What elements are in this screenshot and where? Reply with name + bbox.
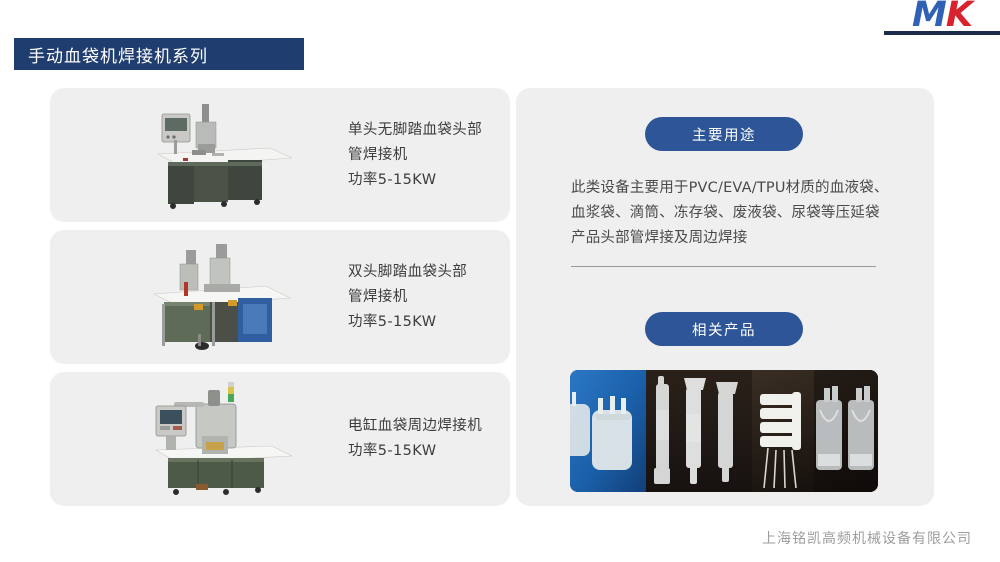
related-products-photo-strip	[570, 370, 878, 492]
info-panel: 主要用途 此类设备主要用于PVC/EVA/TPU材质的血液袋、血浆袋、滴筒、冻存…	[516, 88, 934, 506]
blood-bag-photo	[570, 370, 646, 492]
logo-wordmark: MK	[912, 0, 972, 34]
section-title-text: 手动血袋机焊接机系列	[14, 42, 208, 67]
section-divider	[571, 266, 876, 267]
company-footer: 上海铭凯高频机械设备有限公司	[762, 528, 972, 548]
brand-logo: MK	[884, 0, 1000, 38]
product-card[interactable]: 双头脚踏血袋头部 管焊接机 功率5-15KW	[50, 230, 510, 364]
product-caption: 双头脚踏血袋头部 管焊接机 功率5-15KW	[348, 230, 467, 364]
product-caption: 电缸血袋周边焊接机 功率5-15KW	[348, 372, 482, 506]
usage-badge-label: 主要用途	[692, 124, 756, 145]
product-caption-line: 单头无脚踏血袋头部	[348, 118, 482, 143]
transfer-bag-photo	[814, 370, 878, 492]
usage-badge[interactable]: 主要用途	[645, 117, 803, 151]
product-caption: 单头无脚踏血袋头部 管焊接机 功率5-15KW	[348, 88, 482, 222]
product-caption-line: 双头脚踏血袋头部	[348, 260, 467, 285]
product-caption-line: 功率5-15KW	[348, 439, 482, 464]
section-title-bar: 手动血袋机焊接机系列	[14, 38, 304, 70]
single-head-no-pedal-welder-photo	[140, 96, 310, 214]
related-products-badge-label: 相关产品	[692, 319, 756, 340]
electric-cylinder-perimeter-welder-photo	[140, 380, 310, 498]
product-caption-line: 功率5-15KW	[348, 310, 467, 335]
double-head-pedal-welder-photo	[140, 238, 310, 356]
logo-letter-k: K	[946, 0, 972, 35]
spike-port-connector-photo	[752, 370, 814, 492]
product-caption-line: 电缸血袋周边焊接机	[348, 414, 482, 439]
product-caption-line: 功率5-15KW	[348, 168, 482, 193]
product-card[interactable]: 单头无脚踏血袋头部 管焊接机 功率5-15KW	[50, 88, 510, 222]
product-caption-line: 管焊接机	[348, 143, 482, 168]
logo-letter-m: M	[912, 0, 946, 35]
usage-description: 此类设备主要用于PVC/EVA/TPU材质的血液袋、血浆袋、滴筒、冻存袋、废液袋…	[571, 176, 891, 251]
product-card[interactable]: 电缸血袋周边焊接机 功率5-15KW	[50, 372, 510, 506]
logo-underline-bar	[884, 31, 1000, 35]
product-caption-line: 管焊接机	[348, 285, 467, 310]
related-products-badge[interactable]: 相关产品	[645, 312, 803, 346]
drip-chamber-photo	[646, 370, 752, 492]
